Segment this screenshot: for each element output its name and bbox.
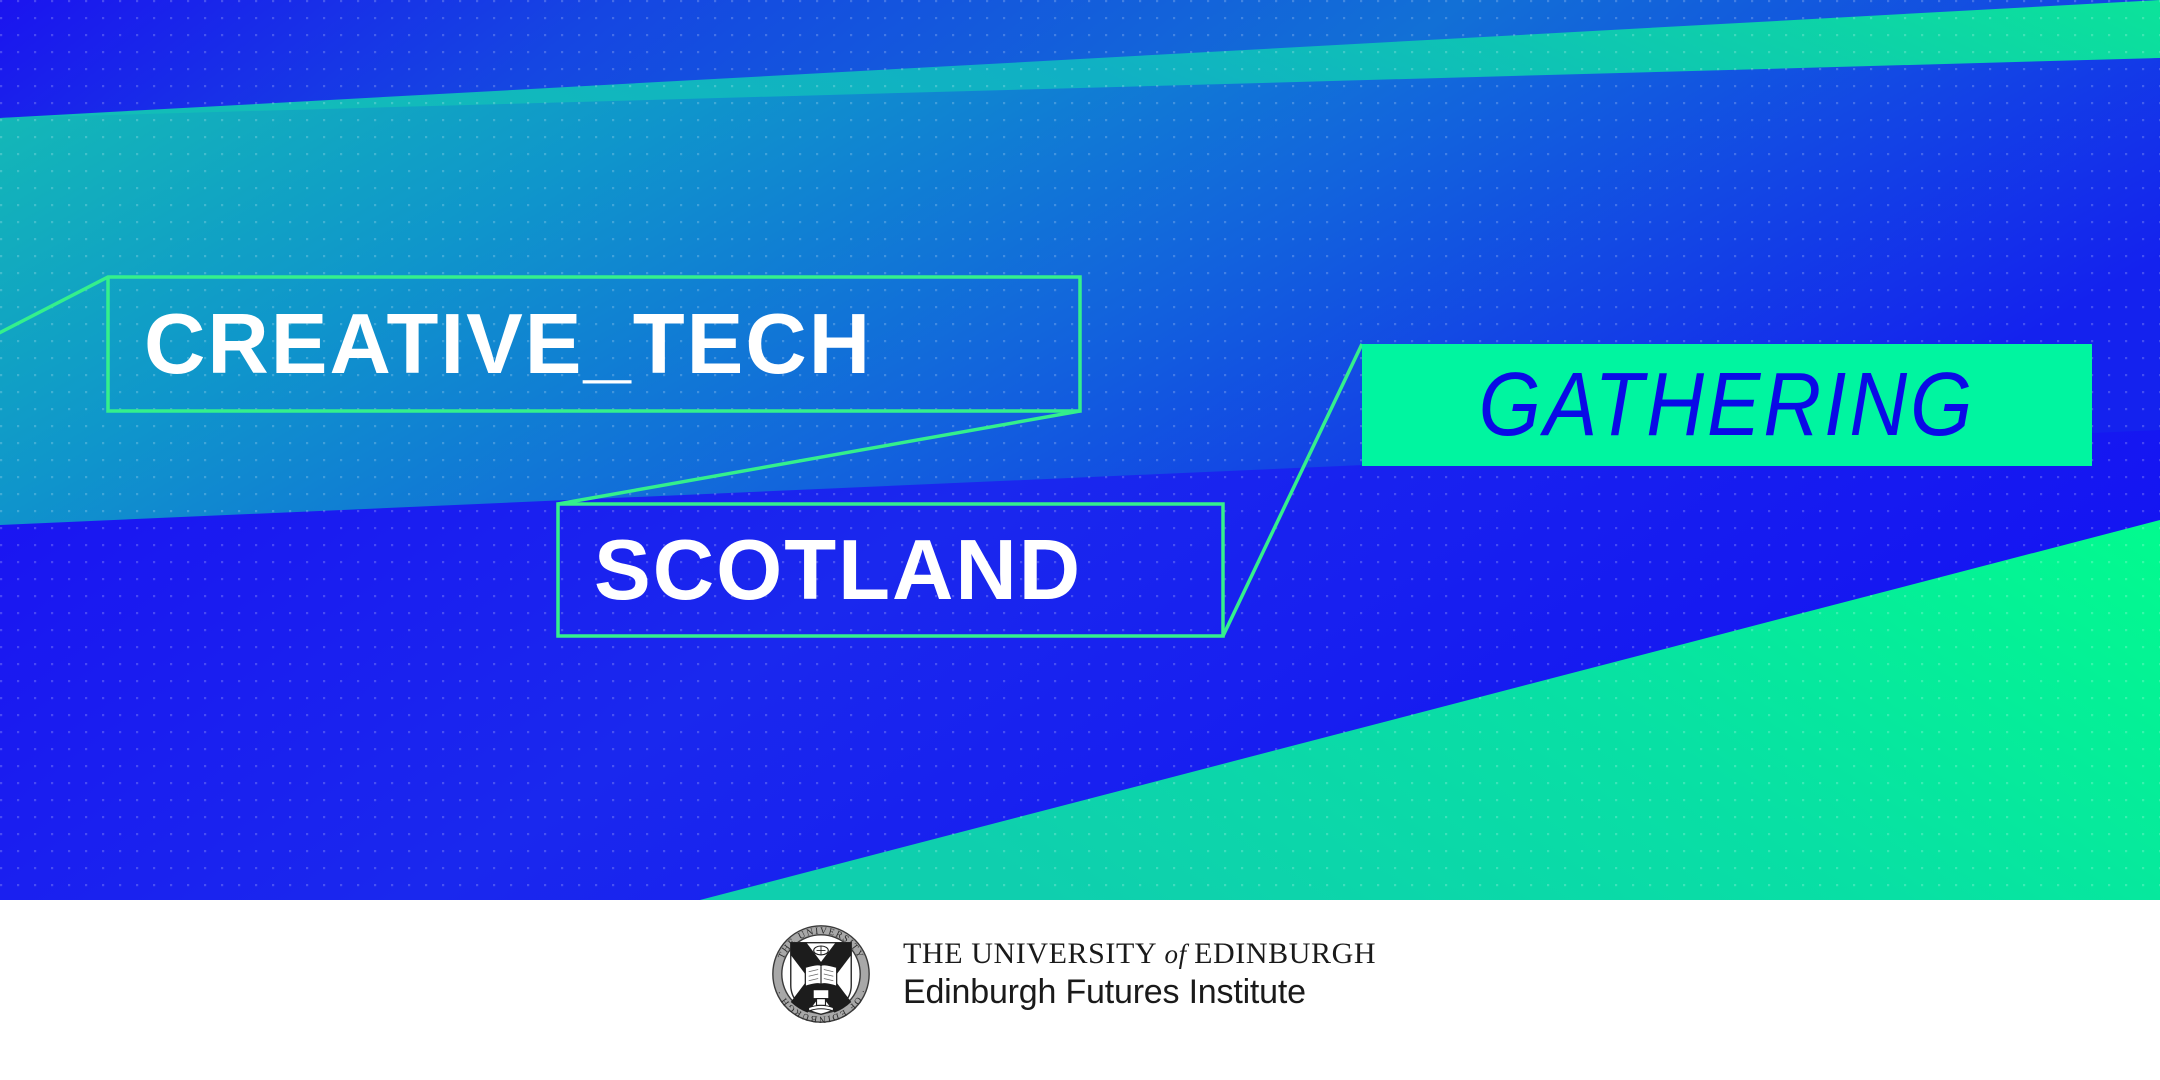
crest-book	[805, 965, 836, 987]
crest-ornament-top	[814, 946, 829, 955]
logo-institute-line: Edinburgh Futures Institute	[903, 973, 1376, 1012]
university-of-edinburgh-crest-icon: THE UNIVERSITY · OF EDINBURGH ·	[765, 918, 877, 1030]
headline-scotland-label: SCOTLAND	[594, 528, 1082, 613]
logo-university-prefix: THE UNIVERSITY	[903, 937, 1157, 970]
logo-university-line: THE UNIVERSITY of EDINBURGH	[903, 937, 1376, 971]
accent-gathering-block: GATHERING	[1362, 344, 2092, 466]
accent-gathering-label: GATHERING	[1479, 360, 1976, 450]
event-banner: CREATIVE_TECH SCOTLAND GATHERING THE UNI…	[0, 0, 2160, 1080]
headline-creative-tech: CREATIVE_TECH	[108, 277, 1080, 411]
logo-university-suffix: EDINBURGH	[1194, 937, 1376, 970]
headline-scotland: SCOTLAND	[558, 504, 1223, 636]
logo-wordmark: THE UNIVERSITY of EDINBURGH Edinburgh Fu…	[903, 937, 1376, 1012]
footer-bar: THE UNIVERSITY · OF EDINBURGH ·	[0, 900, 2160, 1080]
headline-creative-tech-label: CREATIVE_TECH	[144, 302, 872, 387]
university-logo-lockup: THE UNIVERSITY · OF EDINBURGH ·	[765, 918, 1376, 1030]
logo-university-of: of	[1157, 939, 1194, 969]
